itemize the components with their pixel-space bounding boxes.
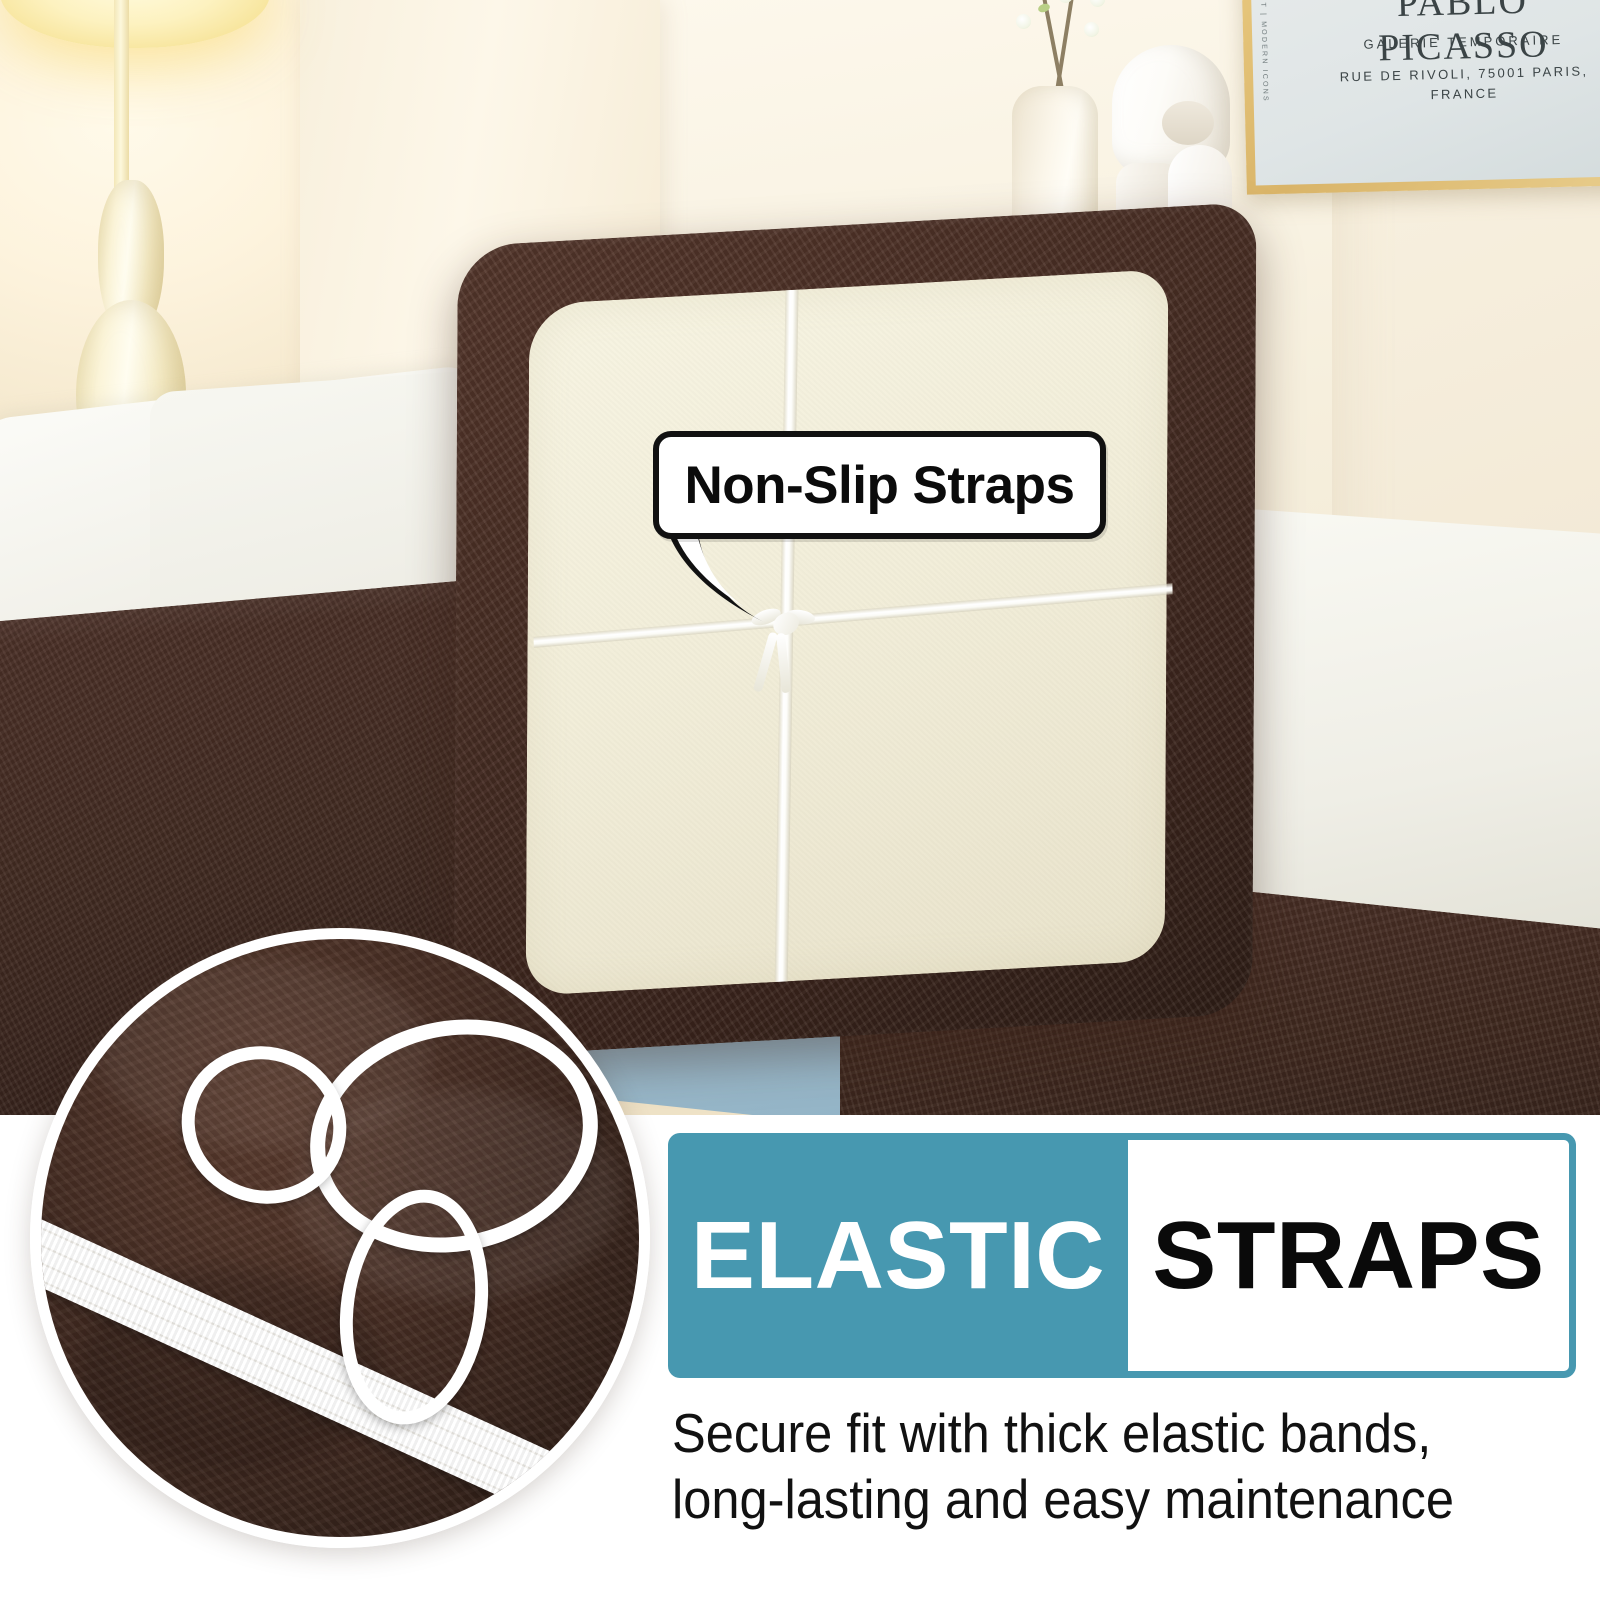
blossom	[1016, 14, 1031, 29]
closeup-inset-circle	[30, 928, 650, 1548]
sofa-backrest-right	[1196, 505, 1600, 954]
lamp-shade	[0, 0, 270, 48]
poster-mat: TPT | MODERN ICONS LES ILLUSTRATIONS DE …	[1250, 0, 1600, 185]
blossom	[1084, 22, 1099, 37]
poster-line-5-text: FRANCE	[1430, 86, 1498, 103]
banner-right-block: STRAPS	[1128, 1133, 1576, 1378]
description-text: Secure fit with thick elastic bands, lon…	[672, 1400, 1528, 1532]
poster-line-4: RUE DE RIVOLI, 75001 PARIS, FRANCE	[1313, 61, 1600, 108]
lamp-neck	[114, 0, 129, 200]
callout-label: Non-Slip Straps	[684, 455, 1074, 516]
banner-word-straps: STRAPS	[1152, 1201, 1544, 1311]
banner-left-block: ELASTIC	[668, 1133, 1128, 1378]
description-line-2: long-lasting and easy maintenance	[672, 1466, 1528, 1532]
blossom	[1090, 0, 1105, 7]
non-slip-straps-callout: Non-Slip Straps	[653, 431, 1106, 539]
lifted-cushion-cover	[453, 202, 1256, 1058]
sculpture-cheek	[1162, 101, 1214, 145]
poster-spine-text: TPT | MODERN ICONS	[1259, 0, 1269, 103]
description-line-1: Secure fit with thick elastic bands,	[672, 1400, 1528, 1466]
poster-line-4-text: RUE DE RIVOLI, 75001 PARIS,	[1340, 63, 1589, 84]
product-marketing-image: TPT | MODERN ICONS LES ILLUSTRATIONS DE …	[0, 0, 1600, 1600]
banner-word-elastic: ELASTIC	[691, 1201, 1105, 1311]
elastic-straps-banner: ELASTIC STRAPS	[668, 1133, 1576, 1378]
framed-poster: TPT | MODERN ICONS LES ILLUSTRATIONS DE …	[1241, 0, 1600, 195]
